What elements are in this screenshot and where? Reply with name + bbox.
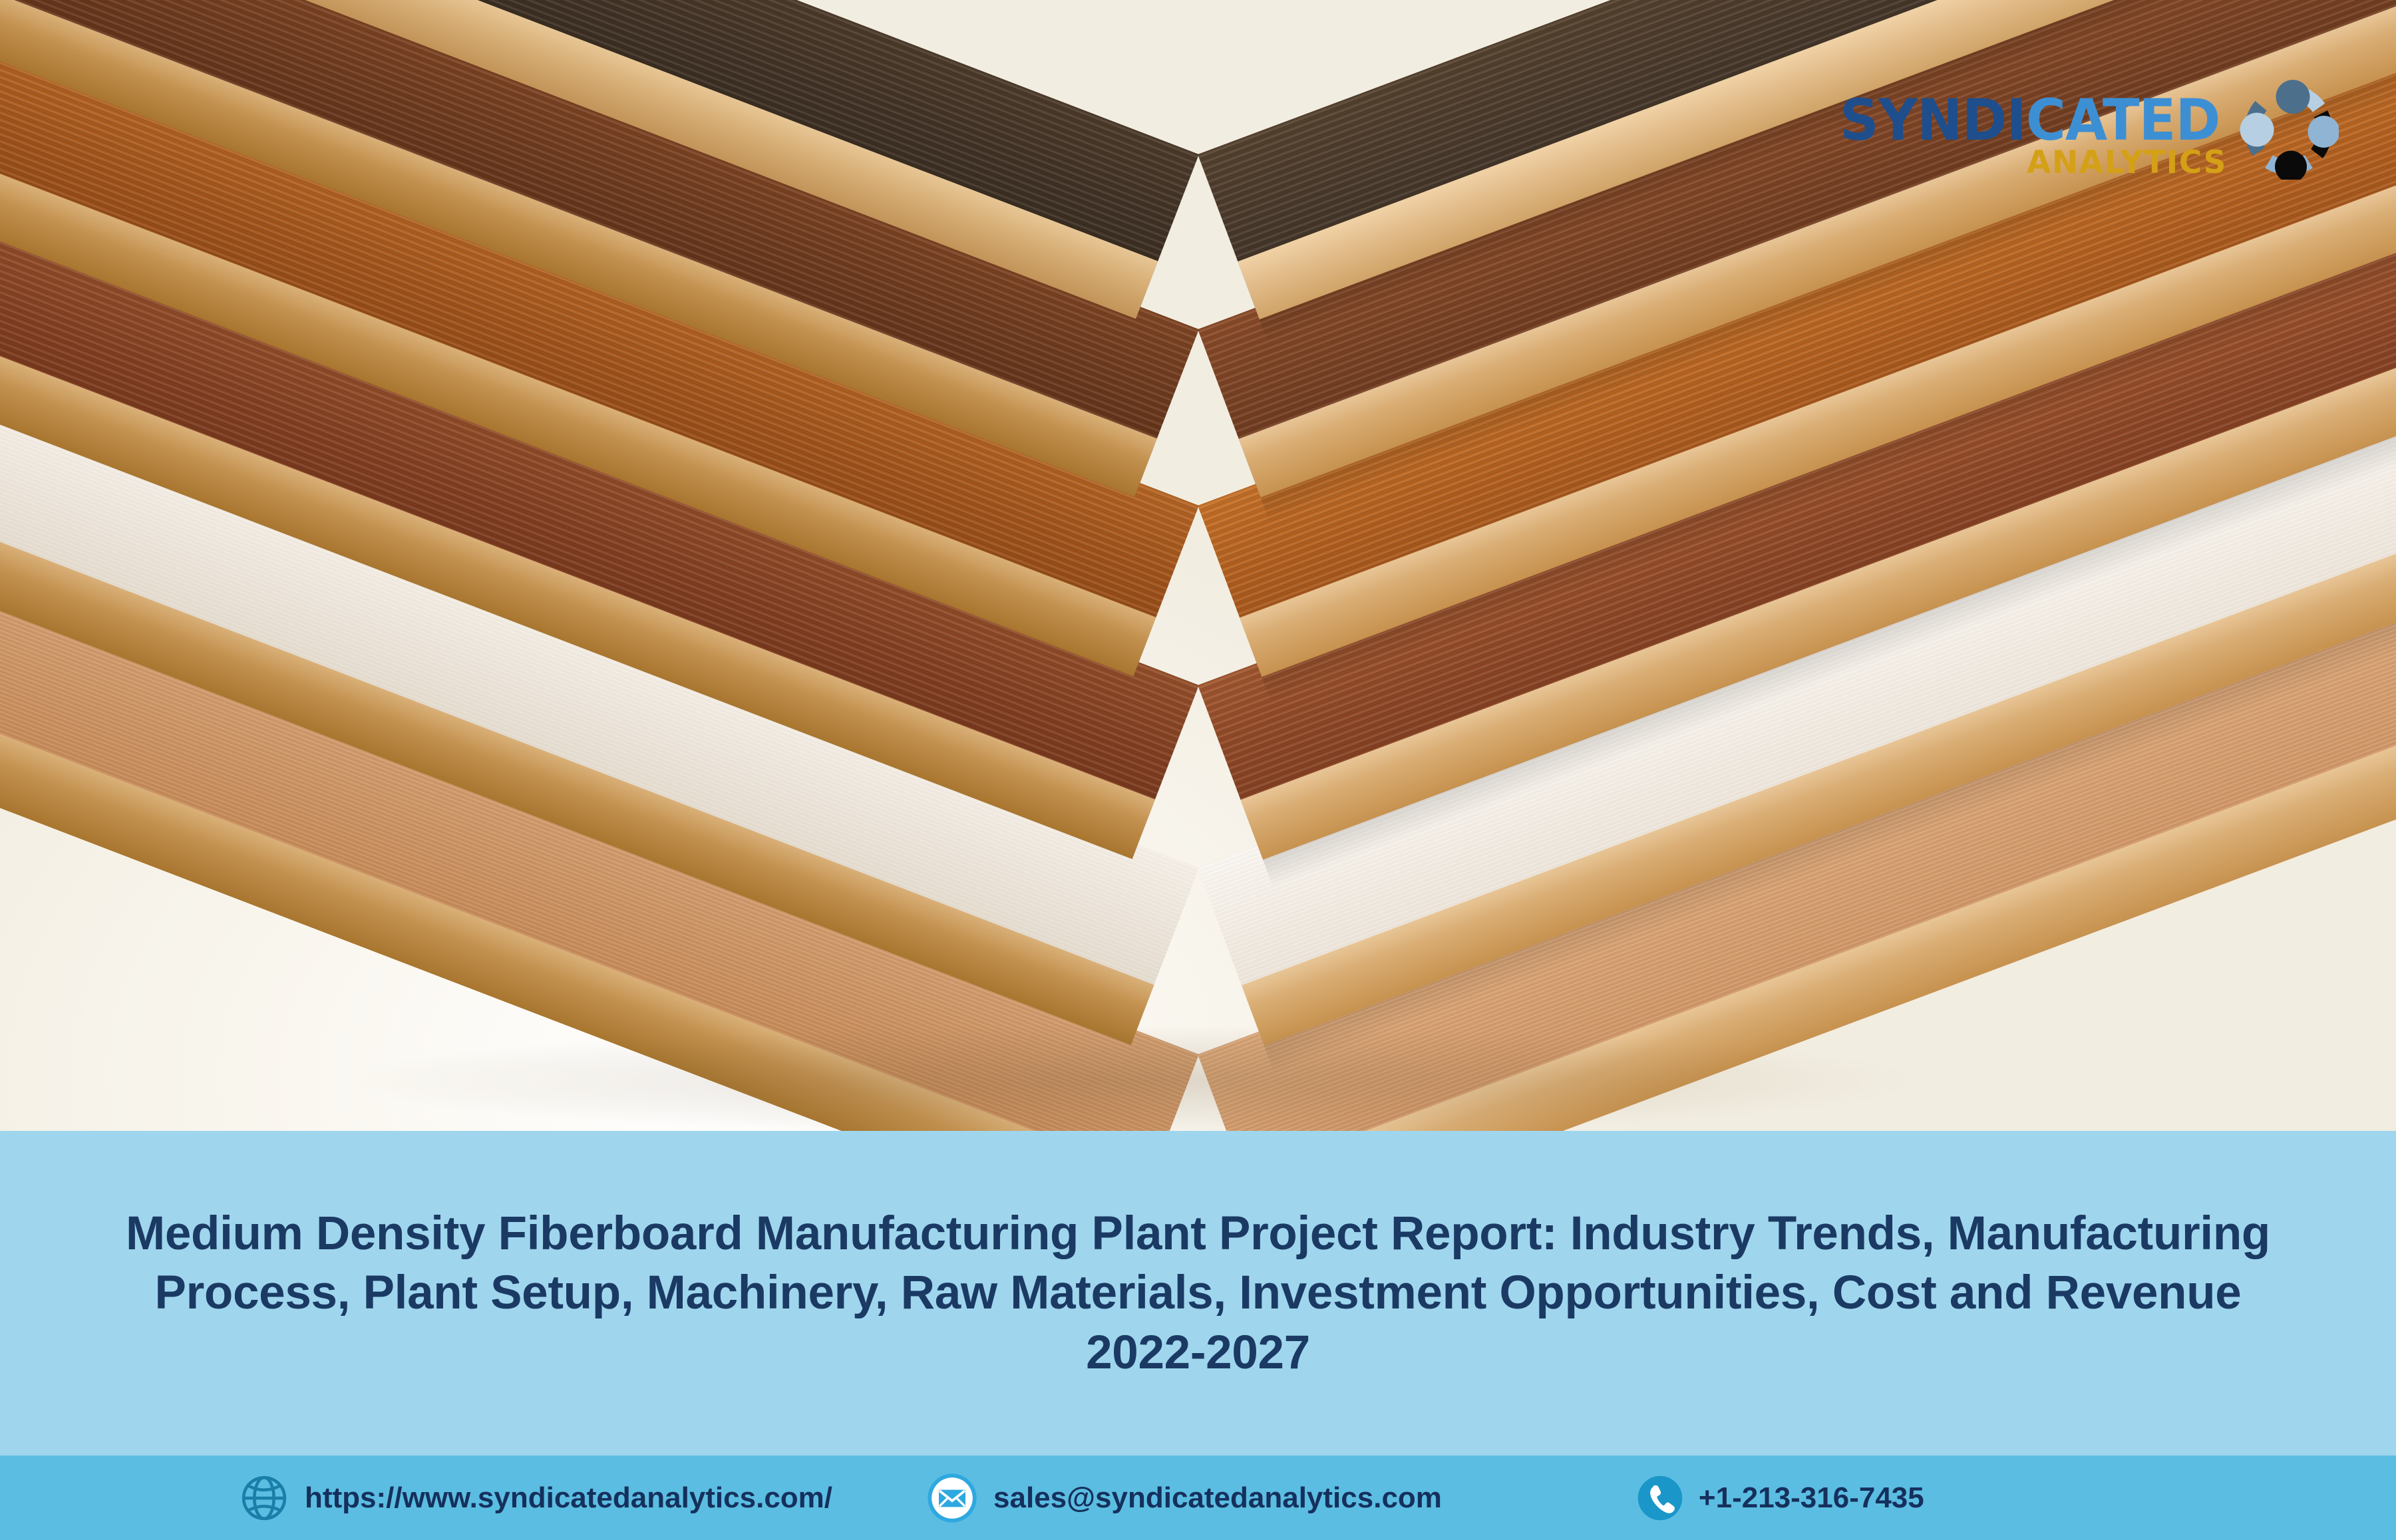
brand-logo[interactable]: SYNDICATED ANALYTICS	[1830, 80, 2339, 192]
hero-image: SYNDICATED ANALYTICS	[0, 0, 2396, 1131]
logo-text-syndi: SYNDI	[1840, 87, 2026, 154]
contact-phone[interactable]: +1-213-316-7435	[1635, 1473, 1924, 1523]
logo-main-text: SYNDICATED	[1840, 94, 2220, 147]
envelope-icon	[926, 1471, 979, 1525]
title-band: Medium Density Fiberboard Manufacturing …	[0, 1131, 2396, 1456]
globe-icon	[240, 1473, 289, 1523]
report-title: Medium Density Fiberboard Manufacturing …	[104, 1204, 2293, 1382]
contact-website[interactable]: https://www.syndicatedanalytics.com/	[240, 1473, 832, 1523]
poster-page: SYNDICATED ANALYTICS Medium Density Fibe…	[0, 0, 2396, 1540]
email-label: sales@syndicatedanalytics.com	[993, 1481, 1442, 1515]
logo-wordmark: SYNDICATED ANALYTICS	[1830, 94, 2230, 177]
contact-email[interactable]: sales@syndicatedanalytics.com	[926, 1471, 1442, 1525]
phone-label: +1-213-316-7435	[1699, 1481, 1924, 1515]
logo-text-cated: CATED	[2026, 87, 2220, 154]
phone-icon	[1635, 1473, 1685, 1523]
contact-bar: https://www.syndicatedanalytics.com/ sal…	[0, 1456, 2396, 1540]
logo-circles-icon	[2239, 80, 2339, 180]
website-label: https://www.syndicatedanalytics.com/	[305, 1481, 832, 1515]
stack-shadow	[333, 1024, 1930, 1131]
